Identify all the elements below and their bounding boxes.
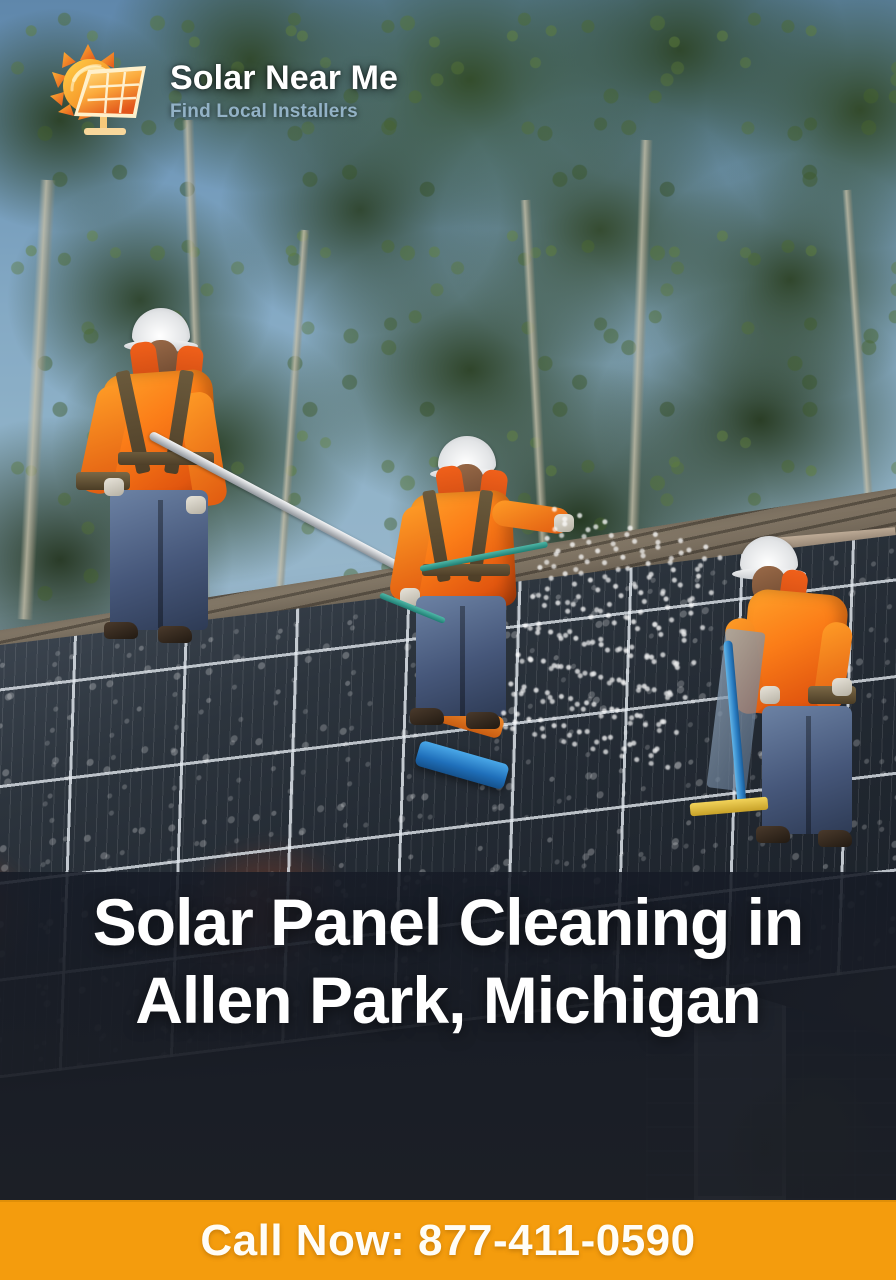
page-title: Solar Panel Cleaning in Allen Park, Mich…	[0, 884, 896, 1040]
work-glove	[832, 678, 852, 696]
brand-name: Solar Near Me	[170, 61, 398, 95]
work-boot	[104, 622, 138, 639]
work-glove	[186, 496, 206, 514]
brand-text: Solar Near Me Find Local Installers	[170, 61, 398, 121]
work-boot	[158, 626, 192, 643]
leg-divider	[460, 606, 465, 716]
call-now-text[interactable]: Call Now: 877-411-0590	[200, 1216, 695, 1266]
leg-divider	[158, 500, 163, 628]
work-glove	[760, 686, 780, 704]
work-boot	[818, 830, 852, 847]
work-boot	[410, 708, 444, 725]
poster-canvas: Solar Near Me Find Local Installers Sola…	[0, 0, 896, 1280]
sun-solar-panel-icon	[44, 42, 156, 140]
work-glove	[104, 478, 124, 496]
brand-logo[interactable]: Solar Near Me Find Local Installers	[44, 42, 398, 140]
call-now-bar[interactable]: Call Now: 877-411-0590	[0, 1200, 896, 1280]
work-boot	[756, 826, 790, 843]
leg-divider	[806, 716, 811, 834]
brand-tagline: Find Local Installers	[170, 102, 398, 121]
